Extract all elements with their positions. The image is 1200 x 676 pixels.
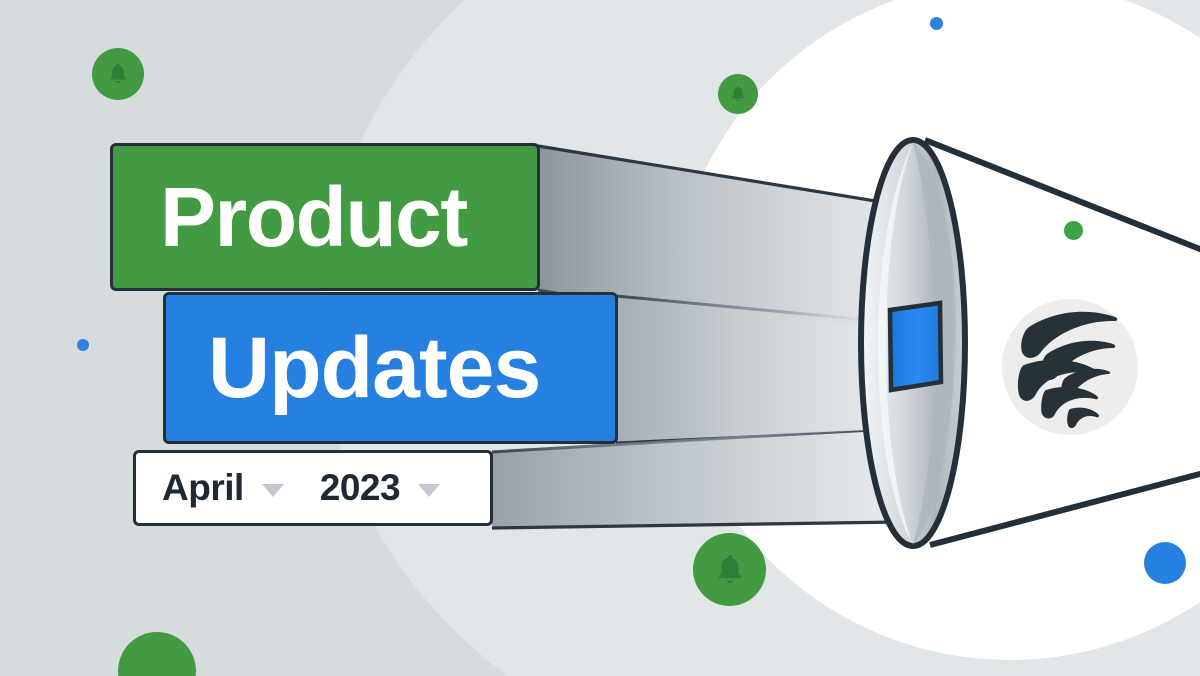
bell-icon [728,84,748,104]
updates-chip: Updates [163,292,618,444]
year-dropdown[interactable]: 2023 [320,467,458,509]
headline-product: Product [160,175,467,259]
bell-badge-top-center [718,74,758,114]
date-selector-chip: April 2023 [133,450,493,526]
bell-icon [105,61,131,87]
dot-green-on-megaphone [1064,221,1083,240]
month-value: April [162,467,244,509]
chevron-down-icon[interactable] [418,484,440,497]
megaphone-blue-accent [890,303,941,390]
bell-icon [711,551,749,589]
dot-blue-small-top [930,17,943,30]
bell-badge-bottom-center [693,533,766,606]
dot-blue-small-left [77,339,89,351]
chevron-down-icon[interactable] [262,484,284,497]
dot-blue-large-right [1144,542,1186,584]
product-chip: Product [110,143,540,291]
headline-updates: Updates [208,325,540,411]
year-value: 2023 [320,467,400,509]
date-chip-extrusion [492,430,900,528]
bell-badge-top-left [92,48,144,100]
month-dropdown[interactable]: April [162,467,302,509]
product-updates-banner: Product Updates April 2023 [0,0,1200,676]
